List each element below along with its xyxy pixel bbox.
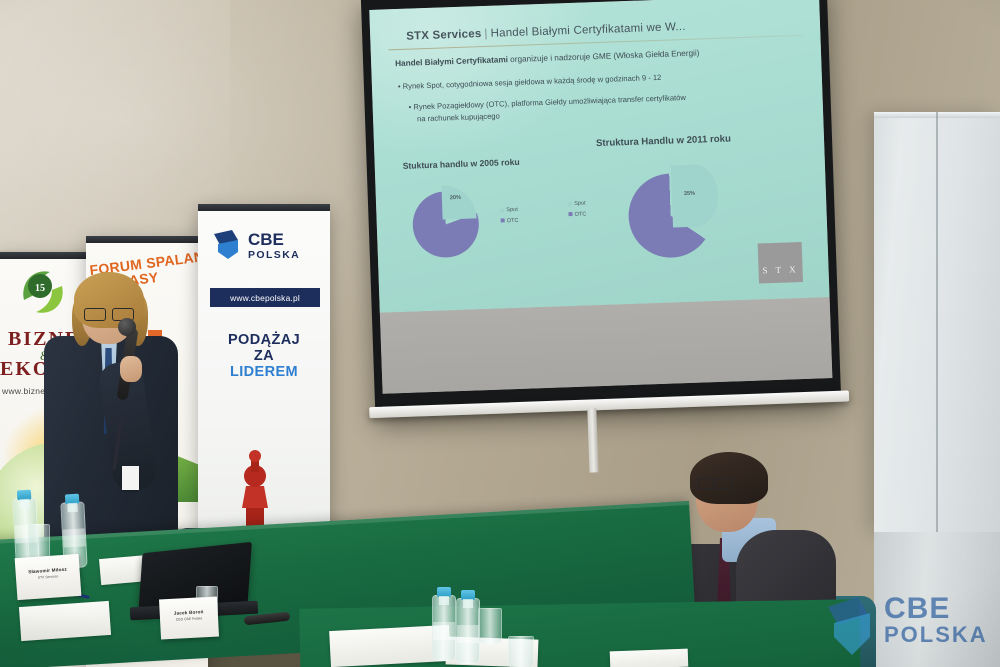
bottle-neck-2: [67, 503, 77, 513]
legend2-swatch-otc: [568, 212, 572, 216]
screen-letterbox: [380, 297, 833, 393]
microphone-head-icon: [118, 318, 136, 336]
watermark-text: CBE POLSKA: [884, 595, 988, 645]
legend2-label-otc: OTC: [574, 211, 586, 217]
cbe-slogan-line3: LIDEREM: [198, 364, 330, 380]
bottle-label-4: [457, 625, 479, 643]
bottle-label-3: [433, 622, 455, 640]
attendee-glasses-icon: [698, 478, 732, 487]
cbe-url-bar: www.cbepolska.pl: [210, 288, 320, 307]
watermark-line-1: CBE: [884, 595, 988, 624]
slide-title-main: STX Services: [406, 28, 482, 43]
chart-1-title: Stuktura handlu w 2005 roku: [403, 157, 520, 171]
white-cabinet: [874, 112, 1000, 532]
slide-bullet-1: • Rynek Spot, cotygodniowa sesja giełdow…: [398, 68, 812, 91]
pie-2005-spot-slice: [441, 184, 476, 219]
legend-swatch-spot: [500, 208, 504, 212]
banner-cbe-top-bar: [198, 204, 330, 211]
cbe-slogan: PODĄŻAJ ZA LIDEREM: [198, 332, 330, 381]
pie-chart-2005: 20%: [411, 184, 485, 258]
wall-highlight: [0, 0, 230, 250]
screen-surface: STX Services|Handel Białymi Certyfikatam…: [369, 0, 832, 394]
slide-title: STX Services|Handel Białymi Certyfikatam…: [406, 17, 810, 43]
slide-bullet-2: • Rynek Pozagiełdowy (OTC), platforma Gi…: [409, 89, 813, 124]
cbe-logo-icon: CBE POLSKA: [212, 228, 308, 262]
name-placard-2: Jacek Boroń CEO CBE Polska: [159, 597, 219, 640]
legend-item-spot: Spot: [500, 205, 518, 216]
legend2-swatch-spot: [568, 202, 572, 206]
slide-lead-text: Handel Białymi Certyfikatami organizuje …: [395, 45, 807, 68]
speaker-hand: [120, 356, 142, 382]
slide-title-rest: Handel Białymi Certyfikatami we W...: [490, 21, 685, 40]
legend2-item-otc: OTC: [568, 209, 586, 220]
water-bottle-3: [432, 595, 456, 661]
glasses-lens-left: [84, 308, 106, 321]
stx-logo: S T X: [758, 242, 803, 284]
bottle-neck-1: [19, 499, 29, 509]
slide-lead-bold: Handel Białymi Certyfikatami: [395, 55, 508, 68]
document-right: [610, 649, 689, 667]
document-left: [19, 601, 111, 641]
stx-logo-text: S T X: [762, 265, 799, 276]
cbe-polska-watermark: CBE POLSKA: [824, 591, 994, 663]
speaker-name-badge: [122, 466, 139, 490]
cbe-url-text: www.cbepolska.pl: [230, 293, 300, 303]
projection-screen: STX Services|Handel Białymi Certyfikatam…: [361, 0, 841, 416]
legend2-item-spot: Spot: [568, 199, 586, 210]
legend-label-spot: Spot: [506, 207, 518, 213]
water-bottle-4: [456, 598, 480, 664]
legend-item-otc: OTC: [501, 216, 519, 227]
pie-2005-legend: Spot OTC: [500, 205, 519, 227]
cbe-slogan-line1: PODĄŻAJ: [198, 332, 330, 348]
svg-text:CBE: CBE: [248, 230, 284, 249]
pie-2005-spot-label: 20%: [450, 195, 461, 201]
pie-chart-2011: 35%: [627, 164, 726, 263]
bottle-neck-4: [463, 599, 473, 608]
legend2-label-spot: Spot: [574, 201, 586, 207]
banner-forum-top-bar: [86, 236, 208, 243]
watermark-line-2: POLSKA: [884, 624, 988, 645]
cabinet-seam: [936, 112, 938, 532]
legend-label-otc: OTC: [507, 218, 519, 224]
attendee-lens-right: [716, 478, 732, 489]
drinking-glass-2: [478, 608, 502, 644]
placard-2-role: CEO CBE Polska: [160, 615, 218, 622]
conference-photo-scene: STX Services|Handel Białymi Certyfikatam…: [0, 0, 1000, 667]
slide-lead-rest: organizuje i nadzoruje GME (Włoska Giełd…: [508, 48, 700, 64]
cbe-slogan-line2: ZA: [198, 348, 330, 364]
bottle-neck-3: [439, 596, 449, 605]
legend-swatch-otc: [501, 219, 505, 223]
drinking-glass-3: [508, 636, 534, 667]
name-placard-1: Sławomir Miłosz STX Services: [15, 554, 82, 600]
pie-2011-spot-label: 35%: [684, 191, 695, 197]
svg-text:POLSKA: POLSKA: [248, 249, 300, 261]
pie-2011-legend: Spot OTC: [568, 199, 587, 221]
chart-2-title: Struktura Handlu w 2011 roku: [596, 133, 731, 149]
drinking-glass-1: [28, 524, 50, 560]
attendee-lens-left: [698, 478, 714, 489]
bottle-label-2: [63, 528, 86, 547]
presentation-slide: STX Services|Handel Białymi Certyfikatam…: [369, 0, 829, 313]
